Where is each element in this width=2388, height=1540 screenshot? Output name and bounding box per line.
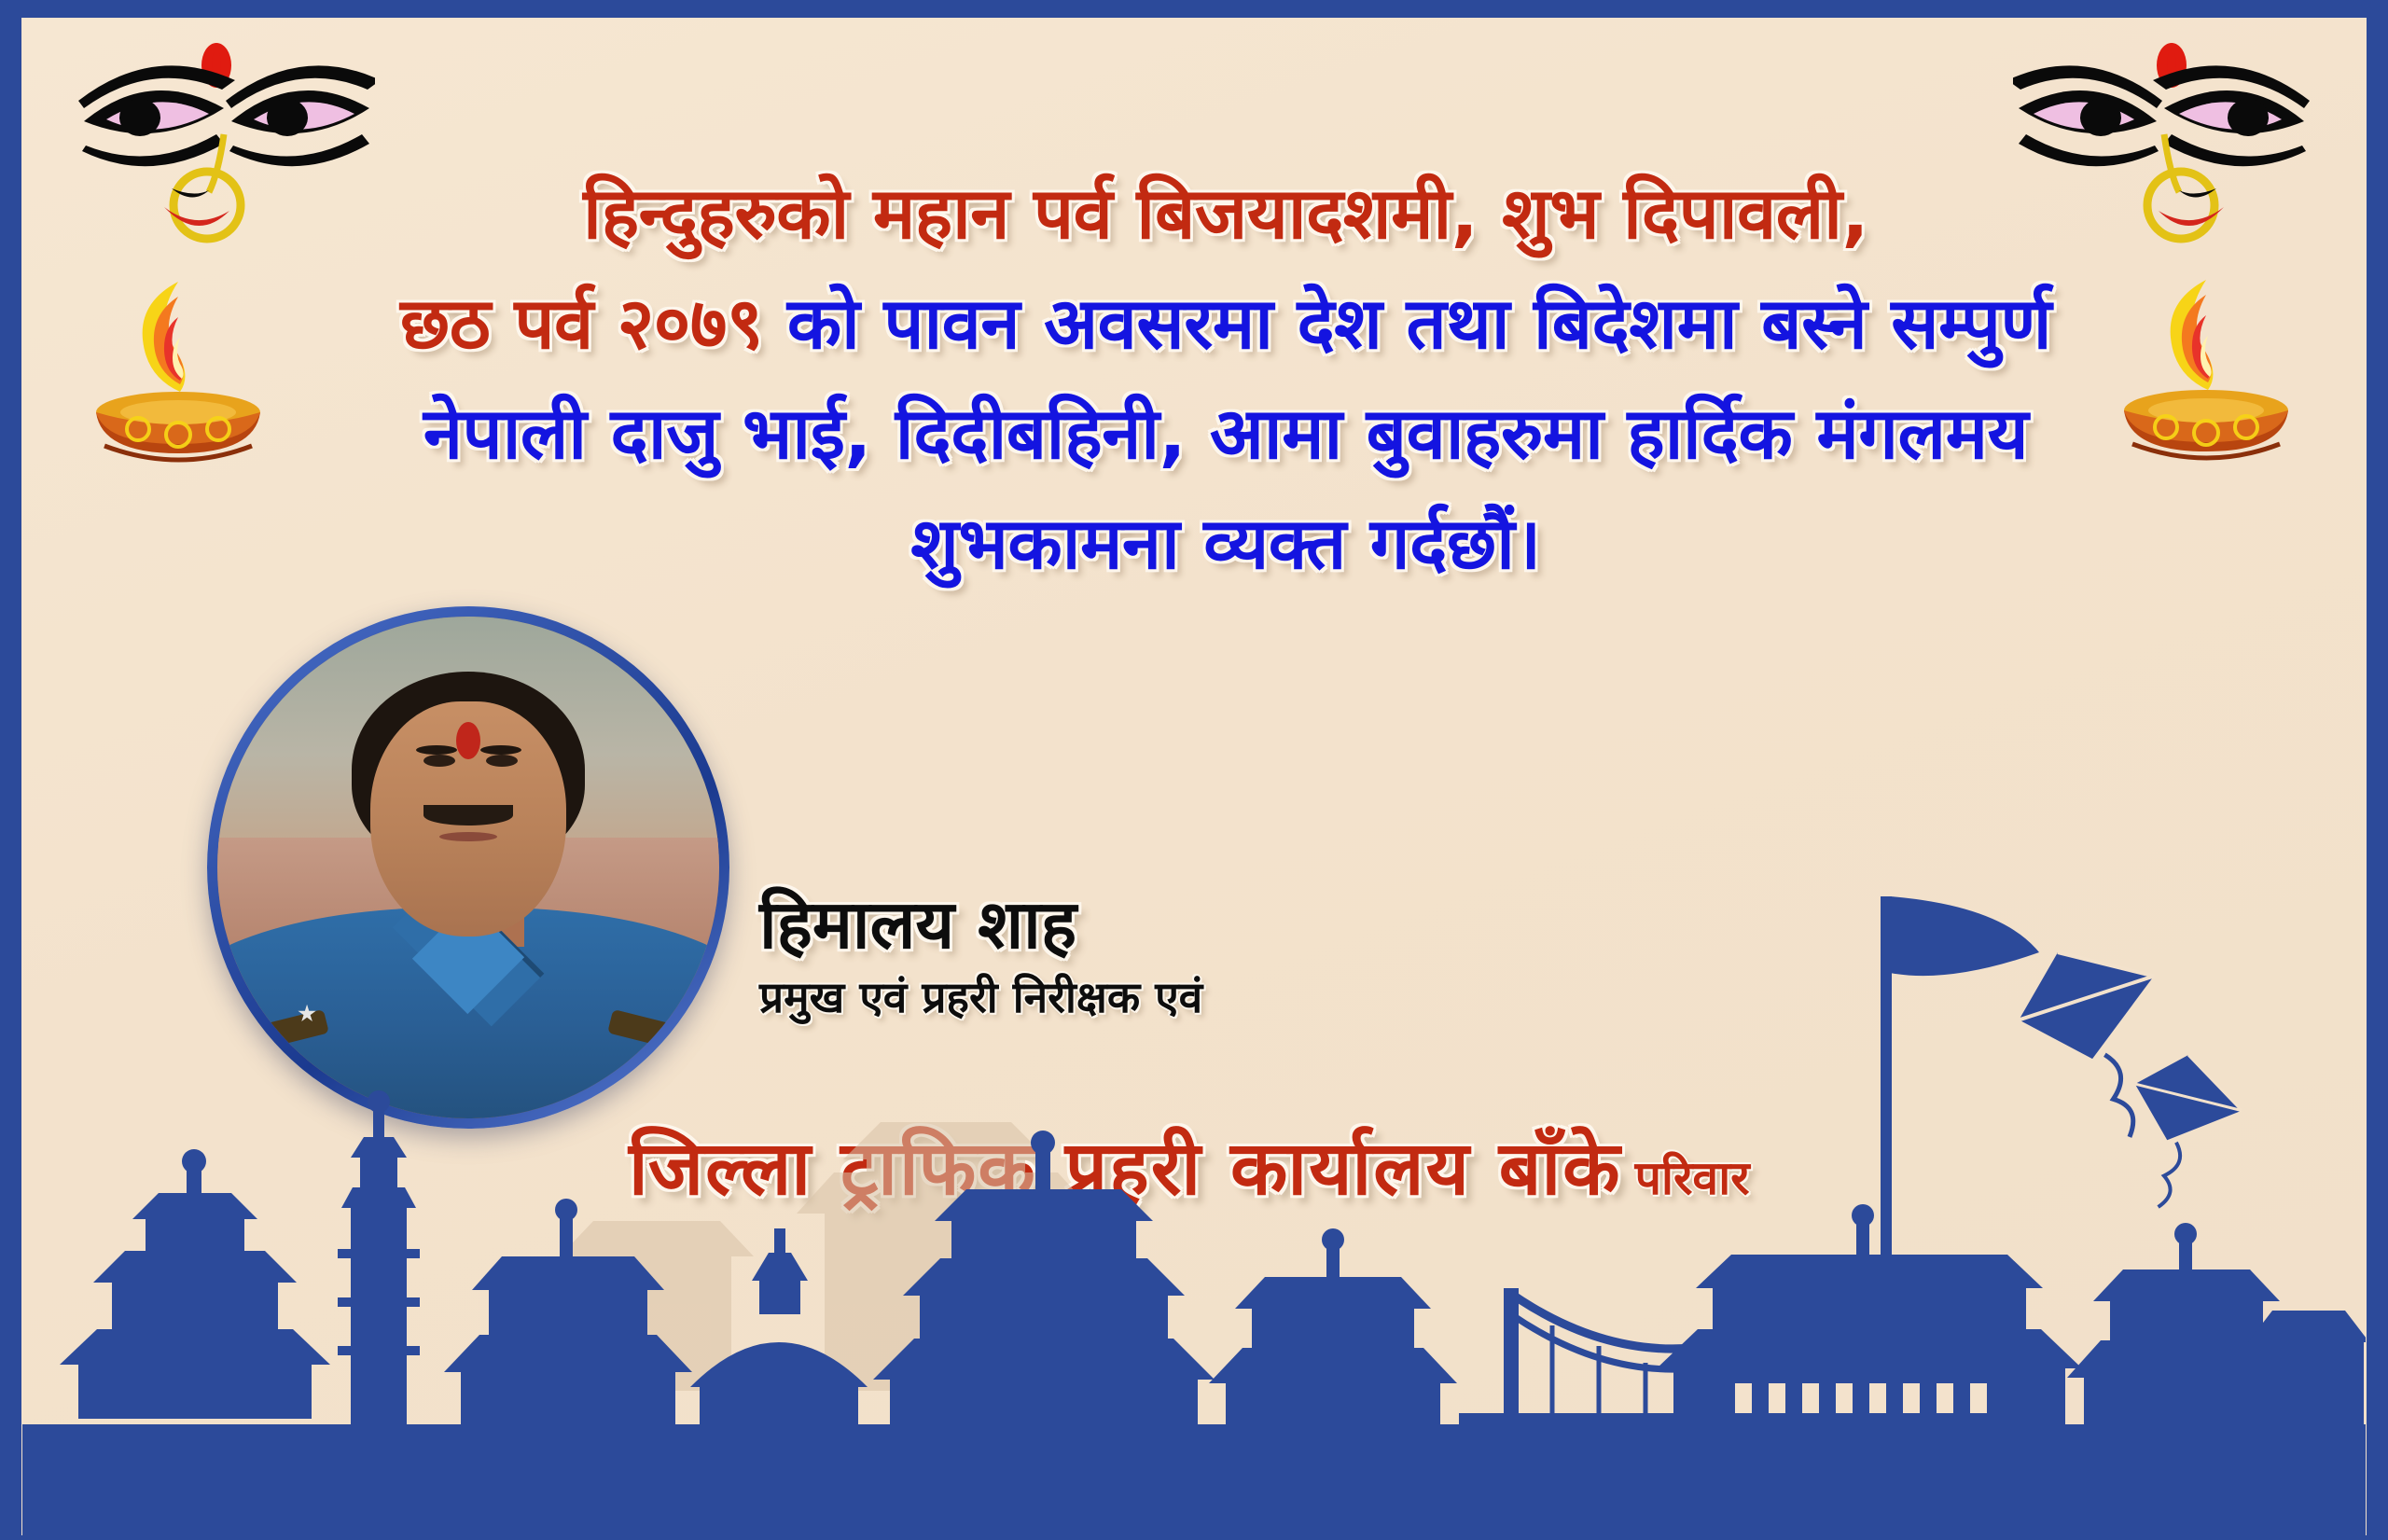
greeting-line-2: छठ पर्व २०७९ को पावन अवसरमा देश तथा बिदे… [218,269,2233,379]
greeting-line-2-red: छठ पर्व २०७९ [400,282,763,365]
mouth [439,832,497,841]
office-suffix: परिवार [1635,1151,1750,1205]
kite-icon [1750,887,2328,1316]
eyebrow-right [480,745,521,755]
eye-left [423,755,455,767]
office-name: जिल्ला ट्राफिक प्रहरी कार्यालय बाँके [629,1125,1622,1212]
card-canvas: हिन्दुहरुको महान पर्व बिजयादशमी, शुभ दिप… [22,19,2366,1540]
greeting-line-4: शुभकामना व्यक्त गर्दछौं। [218,489,2233,599]
avatar [217,617,719,1118]
tika-mark [456,722,480,759]
moustache [423,805,513,825]
greeting-line-2-blue: को पावन अवसरमा देश तथा बिदेशमा बस्ने सम्… [763,282,2051,365]
greeting-line-1: हिन्दुहरुको महान पर्व बिजयादशमी, शुभ दिप… [218,159,2233,269]
eye-right [486,755,518,767]
officer-photo-frame [207,606,729,1129]
greeting-line-3: नेपाली दाजु भाई, दिदीबहिनी, आमा बुवाहरुम… [218,379,2233,489]
greeting-card: हिन्दुहरुको महान पर्व बिजयादशमी, शुभ दिप… [0,0,2388,1540]
eyebrow-left [416,745,457,755]
greeting-line-3-blue: नेपाली दाजु भाई, दिदीबहिनी, आमा बुवाहरुम… [423,392,2028,475]
greeting-text-block: हिन्दुहरुको महान पर्व बिजयादशमी, शुभ दिप… [218,159,2233,599]
greeting-line-4-blue: शुभकामना व्यक्त गर्दछौं। [910,502,1540,585]
ground-band [22,1428,2366,1540]
greeting-line-1-red: हिन्दुहरुको महान पर्व बिजयादशमी, शुभ दिप… [583,172,1868,255]
